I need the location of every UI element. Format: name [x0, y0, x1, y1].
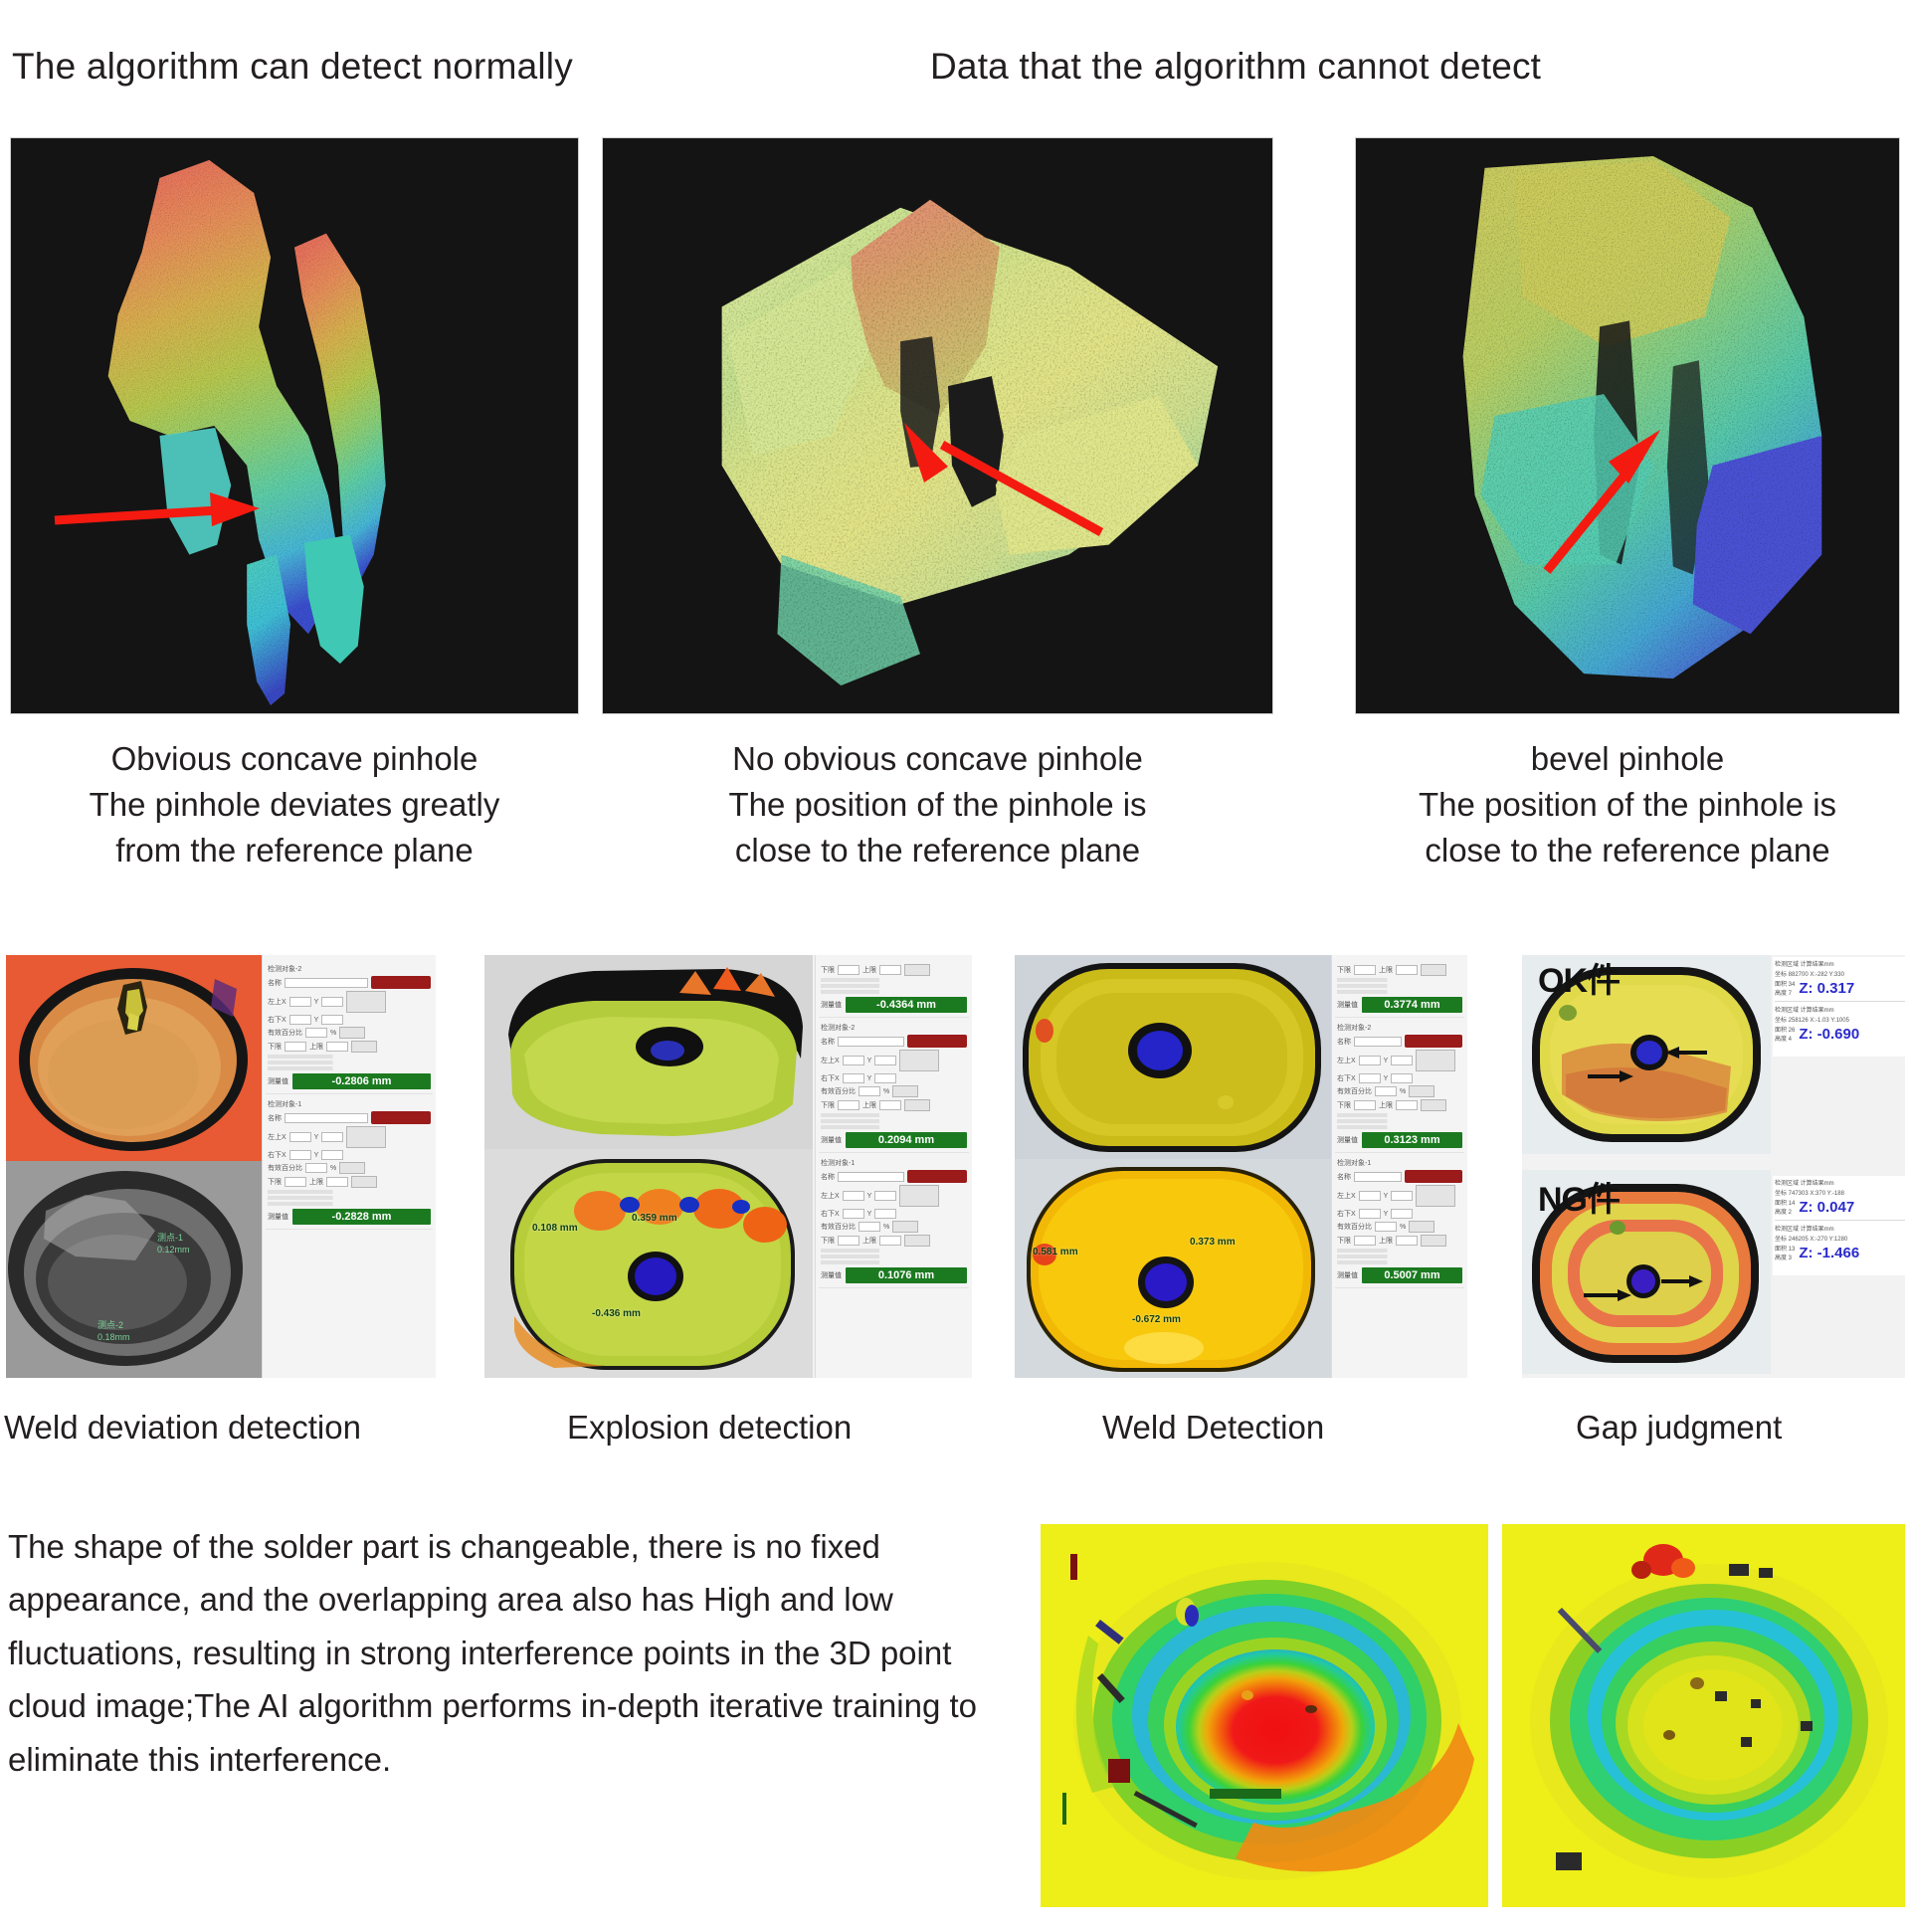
label-gap-judgment: Gap judgment [1576, 1409, 1782, 1447]
status-tag [907, 1035, 967, 1048]
measurement-readout: 测量值 0.5007 mm [1337, 1267, 1462, 1283]
inspection-screenshot-weld-detection: 0.581 mm 0.373 mm -0.672 mm 下限上限 测量值 0.3… [1015, 955, 1467, 1378]
apply-button[interactable] [339, 1027, 365, 1039]
pointcloud-render-3 [1356, 138, 1899, 713]
pointcloud-render-2 [603, 138, 1272, 713]
svg-text:测点-2: 测点-2 [97, 1320, 123, 1330]
reset-button[interactable] [904, 1235, 930, 1247]
measurement-block[interactable]: 检测对象-2 名称 左上XY 右下XY 有效百分比% 下限上限 测量值 -0.2… [266, 959, 433, 1094]
edit-button[interactable] [346, 991, 386, 1013]
z-value: Z: -1.466 [1799, 1245, 1859, 1261]
gap-tag-ok: OK件 [1538, 955, 1620, 1002]
overlay-label: 0.359 mm [632, 1213, 677, 1224]
measurement-readout: 测量值 0.3123 mm [1337, 1132, 1462, 1148]
gap-ok-readouts: 检测区域 计算结果mm 坐标 882700 X:-282 Y:330 面积 34… [1773, 957, 1905, 1057]
reset-button[interactable] [1421, 1099, 1446, 1111]
apply-button[interactable] [1409, 1085, 1434, 1097]
svg-text:0.18mm: 0.18mm [97, 1332, 130, 1342]
status-tag [371, 1111, 431, 1124]
caption-line: bevel pinhole [1355, 736, 1900, 782]
measurement-readout: 测量值 0.3774 mm [1337, 997, 1462, 1013]
overlay-label: -0.436 mm [592, 1308, 641, 1319]
z-value: Z: 0.047 [1799, 1199, 1854, 1216]
readout-value: 0.3774 mm [1362, 997, 1462, 1013]
caption-line: close to the reference plane [602, 828, 1273, 873]
slide-root: The algorithm can detect normally Data t… [0, 0, 1910, 1932]
svg-text:0.12mm: 0.12mm [157, 1245, 190, 1255]
apply-button[interactable] [892, 1085, 918, 1097]
heightmap-right [1502, 1524, 1905, 1907]
explosion-form-panel[interactable]: 下限上限 测量值 -0.4364 mm 检测对象-2 名称 左上XY 右下XY … [815, 955, 972, 1378]
explosion-heatmap-image: 0.108 mm 0.359 mm -0.436 mm [484, 1149, 813, 1378]
heightmap-left [1041, 1524, 1488, 1907]
caption-bevel-pinhole: bevel pinhole The position of the pinhol… [1355, 736, 1900, 874]
apply-button[interactable] [339, 1162, 365, 1174]
measurement-block[interactable]: 下限上限 测量值 -0.4364 mm [819, 959, 969, 1018]
pointcloud-render-1 [11, 138, 578, 713]
edit-button[interactable] [1416, 1185, 1455, 1207]
readout-value: -0.2806 mm [292, 1073, 431, 1089]
readout-value: -0.4364 mm [846, 997, 967, 1013]
pointcloud-panel-bevel-pinhole [1355, 137, 1900, 714]
status-tag [1405, 1170, 1462, 1183]
overlay-label: 0.108 mm [532, 1223, 578, 1234]
caption-line: Obvious concave pinhole [10, 736, 579, 782]
weld-deviation-color-image [6, 955, 262, 1161]
gap-tag-ng: NG件 [1538, 1172, 1620, 1221]
edit-button[interactable] [899, 1185, 939, 1207]
caption-obvious-concave-pinhole: Obvious concave pinhole The pinhole devi… [10, 736, 579, 874]
weld-detection-heatmap-image: 0.581 mm 0.373 mm -0.672 mm [1015, 1159, 1331, 1378]
bottom-paragraph: The shape of the solder part is changeab… [8, 1520, 1013, 1786]
measurement-readout: 测量值 0.2094 mm [821, 1132, 967, 1148]
caption-line: from the reference plane [10, 828, 579, 873]
readout-value: 0.3123 mm [1362, 1132, 1462, 1148]
reset-button[interactable] [904, 964, 930, 976]
edit-button[interactable] [346, 1126, 386, 1148]
heading-algorithm-normal: The algorithm can detect normally [12, 46, 573, 88]
caption-line: close to the reference plane [1355, 828, 1900, 873]
readout-value: -0.2828 mm [292, 1209, 431, 1225]
measurement-block[interactable]: 检测对象-1 名称 左上XY 右下XY 有效百分比% 下限上限 测量值 -0.2… [266, 1094, 433, 1230]
measurement-block[interactable]: 检测对象-2 名称 左上XY 右下XY 有效百分比% 下限上限 测量值 0.20… [819, 1018, 969, 1153]
measurement-block[interactable]: 检测对象-1 名称 左上XY 右下XY 有效百分比% 下限上限 测量值 0.10… [819, 1153, 969, 1288]
caption-no-obvious-concave-pinhole: No obvious concave pinhole The position … [602, 736, 1273, 874]
edit-button[interactable] [1416, 1050, 1455, 1071]
gap-card-ng: NG件 检测区域 计算结果mm 坐标 747303 X:370 Y:-188 面… [1522, 1170, 1905, 1378]
caption-line: The pinhole deviates greatly [10, 782, 579, 828]
reset-button[interactable] [904, 1099, 930, 1111]
measurement-block[interactable]: 下限上限 测量值 0.3774 mm [1335, 959, 1464, 1018]
gap-ng-image: NG件 [1522, 1170, 1771, 1374]
overlay-label: 0.373 mm [1190, 1237, 1236, 1248]
z-value: Z: -0.690 [1799, 1026, 1859, 1043]
pointcloud-panel-obvious-concave-pinhole [10, 137, 579, 714]
z-value: Z: 0.317 [1799, 980, 1854, 997]
label-weld-deviation-detection: Weld deviation detection [4, 1409, 361, 1447]
weld-deviation-gray-image: 测点-1 0.12mm 测点-2 0.18mm [6, 1161, 262, 1378]
heading-algorithm-cannot: Data that the algorithm cannot detect [930, 46, 1541, 88]
measurement-block[interactable]: 检测对象-1 名称 左上XY 右下XY 有效百分比% 下限上限 测量值 0.50… [1335, 1153, 1464, 1288]
status-tag [371, 976, 431, 989]
gap-ng-readouts: 检测区域 计算结果mm 坐标 747303 X:370 Y:-188 面积 14… [1773, 1176, 1905, 1275]
measurement-block[interactable]: 检测对象-2 名称 左上XY 右下XY 有效百分比% 下限上限 测量值 0.31… [1335, 1018, 1464, 1153]
svg-text:测点-1: 测点-1 [157, 1233, 183, 1243]
apply-button[interactable] [892, 1221, 918, 1233]
weld-detection-form-panel[interactable]: 下限上限 测量值 0.3774 mm 检测对象-2 名称 左上XY 右下XY 有… [1331, 955, 1467, 1378]
caption-line: No obvious concave pinhole [602, 736, 1273, 782]
overlay-label: -0.672 mm [1132, 1314, 1181, 1325]
pointcloud-panel-no-obvious-concave-pinhole [602, 137, 1273, 714]
readout-value: 0.1076 mm [846, 1267, 967, 1283]
measurement-readout: 测量值 0.1076 mm [821, 1267, 967, 1283]
label-explosion-detection: Explosion detection [567, 1409, 852, 1447]
reset-button[interactable] [351, 1041, 377, 1053]
reset-button[interactable] [351, 1176, 377, 1188]
caption-line: The position of the pinhole is [1355, 782, 1900, 828]
gap-ok-image: OK件 [1522, 955, 1771, 1154]
readout-value: 0.5007 mm [1362, 1267, 1462, 1283]
readout-value: 0.2094 mm [846, 1132, 967, 1148]
status-tag [907, 1170, 967, 1183]
inspection-screenshot-weld-deviation-detection: 测点-1 0.12mm 测点-2 0.18mm 检测对象-2 名称 左上XY 右… [6, 955, 436, 1378]
measurement-readout: 测量值 -0.2806 mm [268, 1073, 431, 1089]
reset-button[interactable] [1421, 964, 1446, 976]
overlay-label: 0.581 mm [1033, 1247, 1078, 1257]
gap-card-ok: OK件 检测区域 计算结果mm 坐标 882700 X:-282 Y:330 面… [1522, 955, 1905, 1162]
status-tag [1405, 1035, 1462, 1048]
reset-button[interactable] [1421, 1235, 1446, 1247]
caption-line: The position of the pinhole is [602, 782, 1273, 828]
label-weld-detection: Weld Detection [1102, 1409, 1324, 1447]
inspection-screenshot-gap-judgment: OK件 检测区域 计算结果mm 坐标 882700 X:-282 Y:330 面… [1522, 955, 1905, 1378]
measurement-readout: 测量值 -0.4364 mm [821, 997, 967, 1013]
explosion-3d-image [484, 955, 813, 1149]
apply-button[interactable] [1409, 1221, 1434, 1233]
edit-button[interactable] [899, 1050, 939, 1071]
weld-deviation-form-panel[interactable]: 检测对象-2 名称 左上XY 右下XY 有效百分比% 下限上限 测量值 -0.2… [262, 955, 436, 1378]
inspection-screenshot-explosion-detection: 0.108 mm 0.359 mm -0.436 mm 下限上限 测量值 -0.… [484, 955, 972, 1378]
weld-detection-color-image [1015, 955, 1331, 1159]
measurement-readout: 测量值 -0.2828 mm [268, 1209, 431, 1225]
